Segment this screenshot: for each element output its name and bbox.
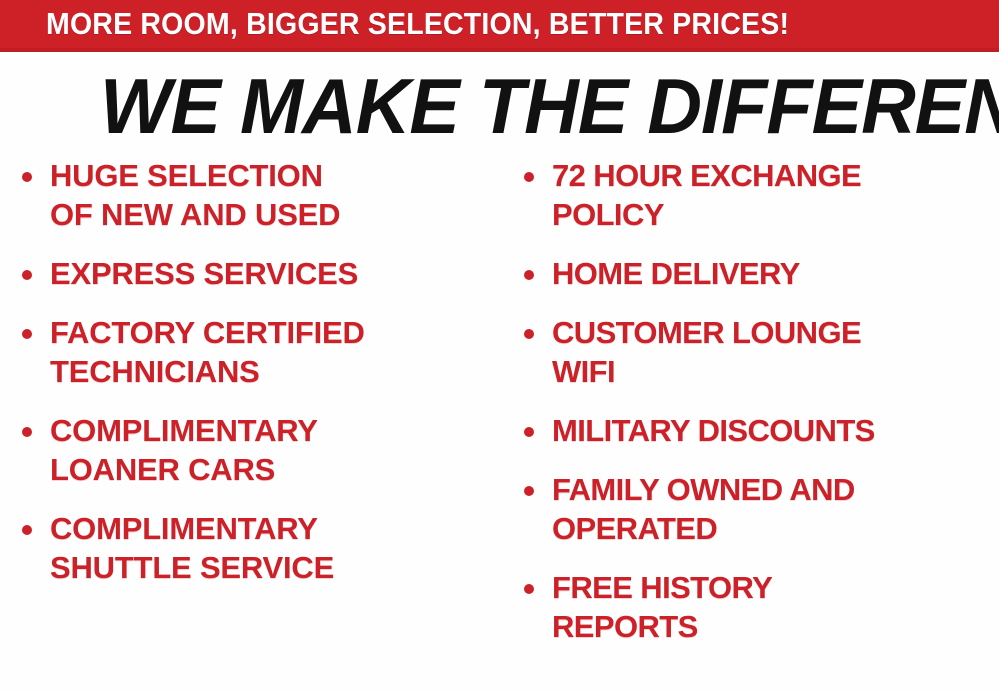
list-item-label: CUSTOMER LOUNGE WIFI: [552, 313, 999, 391]
main-headline: WE MAKE THE DIFFERENCE: [100, 66, 900, 146]
bullet-dot-icon: [22, 270, 32, 280]
benefits-column-right: 72 HOUR EXCHANGE POLICY HOME DELIVERY CU…: [518, 156, 999, 692]
list-item: COMPLIMENTARY LOANER CARS: [16, 411, 500, 489]
list-item: 72 HOUR EXCHANGE POLICY: [518, 156, 999, 234]
list-item-label: EXPRESS SERVICES: [50, 254, 500, 293]
list-item-label: FREE HISTORY REPORTS: [552, 568, 999, 646]
list-item: COMPLIMENTARY SHUTTLE SERVICE: [16, 509, 500, 587]
bullet-dot-icon: [524, 172, 534, 182]
list-item-label: COMPLIMENTARY LOANER CARS: [50, 411, 500, 489]
bullet-dot-icon: [22, 427, 32, 437]
benefits-column-left: HUGE SELECTION OF NEW AND USED EXPRESS S…: [16, 156, 500, 692]
list-item-label: MILITARY DISCOUNTS: [552, 411, 999, 450]
list-item: HUGE SELECTION OF NEW AND USED: [16, 156, 500, 234]
promotional-poster: MORE ROOM, BIGGER SELECTION, BETTER PRIC…: [0, 0, 999, 692]
bullet-dot-icon: [524, 486, 534, 496]
list-item: EXPRESS SERVICES: [16, 254, 500, 293]
list-item: CUSTOMER LOUNGE WIFI: [518, 313, 999, 391]
bullet-dot-icon: [524, 584, 534, 594]
benefits-columns: HUGE SELECTION OF NEW AND USED EXPRESS S…: [0, 156, 999, 692]
list-item-label: FAMILY OWNED AND OPERATED: [552, 470, 999, 548]
bullet-dot-icon: [22, 329, 32, 339]
main-headline-text: WE MAKE THE DIFFERENCE: [100, 66, 876, 146]
bullet-dot-icon: [22, 525, 32, 535]
list-item-label: COMPLIMENTARY SHUTTLE SERVICE: [50, 509, 500, 587]
list-item-label: HUGE SELECTION OF NEW AND USED: [50, 156, 500, 234]
list-item-label: FACTORY CERTIFIED TECHNICIANS: [50, 313, 500, 391]
top-banner: MORE ROOM, BIGGER SELECTION, BETTER PRIC…: [0, 0, 999, 52]
bullet-dot-icon: [524, 329, 534, 339]
list-item: FREE HISTORY REPORTS: [518, 568, 999, 646]
list-item: FAMILY OWNED AND OPERATED: [518, 470, 999, 548]
list-item: FACTORY CERTIFIED TECHNICIANS: [16, 313, 500, 391]
list-item-label: 72 HOUR EXCHANGE POLICY: [552, 156, 999, 234]
bullet-dot-icon: [524, 270, 534, 280]
list-item: MILITARY DISCOUNTS: [518, 411, 999, 450]
bullet-dot-icon: [22, 172, 32, 182]
list-item: HOME DELIVERY: [518, 254, 999, 293]
list-item-label: HOME DELIVERY: [552, 254, 999, 293]
top-banner-headline: MORE ROOM, BIGGER SELECTION, BETTER PRIC…: [46, 8, 789, 39]
bullet-dot-icon: [524, 427, 534, 437]
